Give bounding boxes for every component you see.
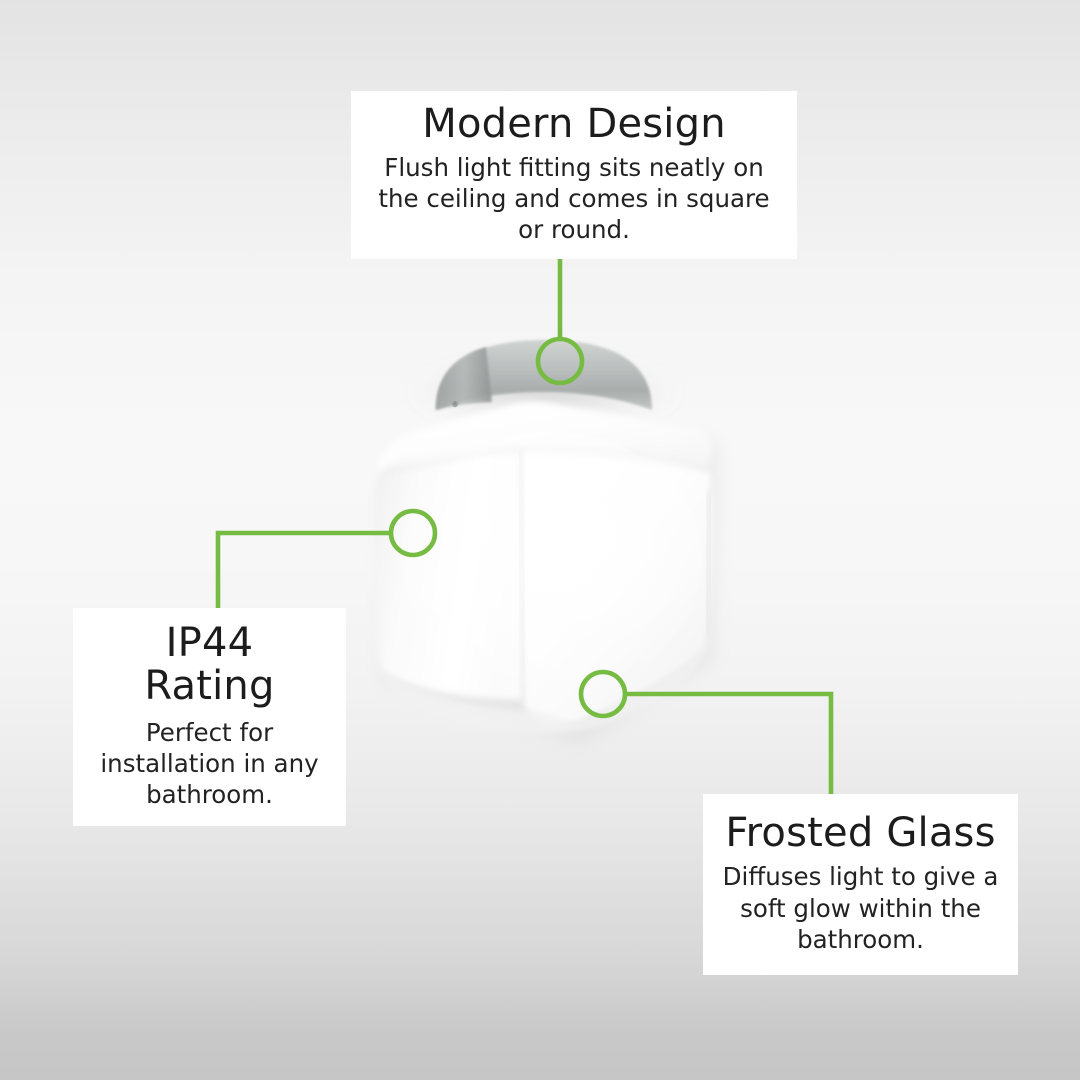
callout-marker-left	[391, 511, 435, 555]
infographic-canvas: Modern Design Flush light fitting sits n…	[0, 0, 1080, 1080]
callout-frosted-glass-title: Frosted Glass	[725, 812, 995, 855]
callout-marker-top	[538, 339, 582, 383]
callout-ip44: IP44 Rating Perfect for installation in …	[73, 608, 346, 826]
callout-ip44-title: IP44 Rating	[144, 622, 274, 708]
callout-modern-design-body: Flush light fitting sits neatly on the c…	[374, 152, 774, 245]
callout-ip44-body: Perfect for installation in any bathroom…	[85, 717, 335, 810]
callout-modern-design-title: Modern Design	[422, 103, 726, 146]
callout-frosted-glass: Frosted Glass Diffuses light to give a s…	[703, 794, 1018, 975]
connector-line-frosted-glass	[625, 694, 831, 798]
callout-frosted-glass-body: Diffuses light to give a soft glow withi…	[716, 861, 1006, 954]
connector-line-ip44	[218, 533, 391, 612]
callout-modern-design: Modern Design Flush light fitting sits n…	[351, 91, 797, 259]
callout-marker-bottom-right	[581, 672, 625, 716]
